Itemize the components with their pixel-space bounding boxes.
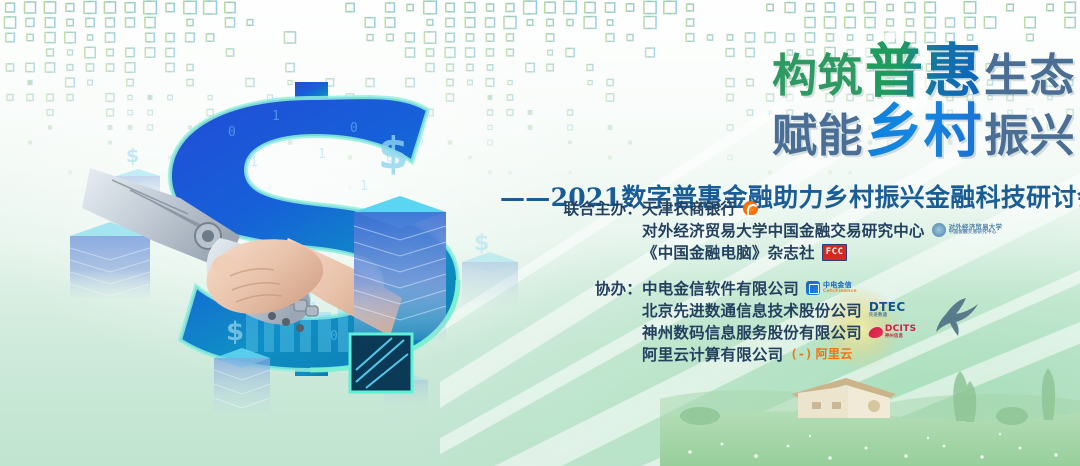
coin-tower-far-right: $ xyxy=(462,231,518,308)
credits-block: 联合主办： 天津农商银行 对外经济贸易大学中国金融交易研究中心 对外经济贸易大学… xyxy=(556,197,1076,379)
svg-text:0: 0 xyxy=(228,125,236,140)
dcits-logo: DCITS 神州信息 xyxy=(869,325,917,339)
spiral-logo xyxy=(743,201,758,216)
host-name-2: 对外经济贸易大学中国金融交易研究中心 xyxy=(642,219,925,241)
university-seal-logo: 对外经济贸易大学 中国金融交易研究中心 xyxy=(932,223,1003,237)
coorg-name-2: 北京先进数通信息技术股份公司 xyxy=(642,299,862,321)
coorg-row-2: 北京先进数通信息技术股份公司 DTEC 先进数通 xyxy=(556,299,1076,321)
title-seg-funeng: 赋能 xyxy=(772,109,863,162)
farmhouse-icon xyxy=(792,378,896,418)
title-seg-zhenxing: 振兴 xyxy=(984,109,1075,162)
coorganizer-group: 协办： 中电金信软件有限公司 中电金信 CetcFinance 北京先进数通信息… xyxy=(556,277,1076,365)
cetc-logo-mark xyxy=(806,281,820,295)
svg-text:1: 1 xyxy=(272,109,280,124)
svg-text:0: 0 xyxy=(330,329,338,344)
svg-text:1: 1 xyxy=(250,155,258,170)
tech-panel-chip xyxy=(350,334,412,392)
cetc-logo-sub: CetcFinance xyxy=(823,290,857,295)
aliyun-logo-text: 阿里云 xyxy=(816,348,853,360)
coorg-row-4: 阿里云计算有限公司 (-) 阿里云 xyxy=(556,343,1076,365)
svg-text:$: $ xyxy=(226,317,244,347)
dtec-logo-text: DTEC xyxy=(869,301,906,313)
svg-text:$: $ xyxy=(378,128,409,179)
fcc-logo: FCC xyxy=(822,244,848,261)
host-row-3: 《中国金融电脑》杂志社 FCC xyxy=(556,241,1076,263)
dcits-logo-text: DCITS xyxy=(885,325,917,334)
dollar-handshake-artwork: $ $ 01 01 01 1 xyxy=(60,40,530,420)
conference-banner: $ $ 01 01 01 1 xyxy=(0,0,1080,466)
coorg-row-1: 协办： 中电金信软件有限公司 中电金信 CetcFinance xyxy=(556,277,1076,299)
cetc-finance-logo: 中电金信 CetcFinance xyxy=(806,281,857,295)
coin-tower-right-tall: $ xyxy=(354,128,446,340)
title-seg-xiangcun: 乡村 xyxy=(863,97,984,165)
university-logo-sub: 中国金融交易研究中心 xyxy=(949,231,1003,236)
coorg-row-3: 神州数码信息服务股份有限公司 DCITS 神州信息 xyxy=(556,321,1076,343)
coorganizer-label: 协办： xyxy=(556,277,642,299)
cetc-logo-name: 中电金信 xyxy=(823,282,857,289)
host-row-2: 对外经济贸易大学中国金融交易研究中心 对外经济贸易大学 中国金融交易研究中心 xyxy=(556,219,1076,241)
title-line-1: 构筑普惠生态 xyxy=(500,42,1075,100)
title-line-2: 赋能乡村振兴 xyxy=(500,102,1075,160)
svg-text:$: $ xyxy=(126,145,139,167)
dcits-logo-sub: 神州信息 xyxy=(885,335,917,339)
host-group: 联合主办： 天津农商银行 对外经济贸易大学中国金融交易研究中心 对外经济贸易大学… xyxy=(556,197,1076,263)
svg-text:1: 1 xyxy=(318,147,326,162)
dcits-logo-mark xyxy=(867,327,884,338)
aliyun-logo: (-) 阿里云 xyxy=(790,348,852,360)
dtec-logo-sub: 先进数通 xyxy=(869,314,887,318)
host-label: 联合主办： xyxy=(556,197,642,219)
svg-text:$: $ xyxy=(474,231,489,256)
svg-text:1: 1 xyxy=(360,179,368,194)
coorg-name-4: 阿里云计算有限公司 xyxy=(642,343,783,365)
aliyun-logo-mark: (-) xyxy=(790,348,812,360)
host-row-1: 联合主办： 天津农商银行 xyxy=(556,197,1076,219)
host-name-3: 《中国金融电脑》杂志社 xyxy=(642,241,815,263)
svg-text:0: 0 xyxy=(416,135,424,150)
coorg-name-1: 中电金信软件有限公司 xyxy=(642,277,799,299)
svg-text:0: 0 xyxy=(350,121,358,136)
title-block: 构筑普惠生态 赋能乡村振兴 ——2021数字普惠金融助力乡村振兴金融科技研讨会 xyxy=(500,42,1075,214)
title-seg-shengtai: 生态 xyxy=(984,49,1075,102)
fcc-logo-text: FCC xyxy=(822,244,848,261)
university-seal-mark xyxy=(932,223,946,237)
dtec-logo: DTEC 先进数通 xyxy=(869,301,906,318)
title-seg-gouzhu: 构筑 xyxy=(772,49,863,102)
coorg-name-3: 神州数码信息服务股份有限公司 xyxy=(642,321,862,343)
host-name-1: 天津农商银行 xyxy=(642,197,736,219)
title-seg-puhui: 普惠 xyxy=(863,37,984,105)
